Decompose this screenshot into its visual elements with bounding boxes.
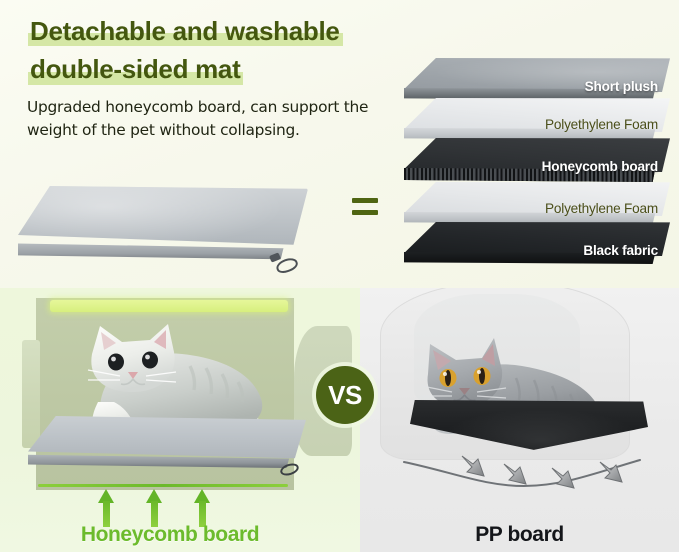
comparison-section: Honeycomb board <box>0 288 679 552</box>
pressure-arrow-down-1 <box>460 454 486 484</box>
headline-line-2: double-sided mat <box>30 52 240 86</box>
vs-badge: VS <box>316 366 374 424</box>
layer-label-2: Honeycomb board <box>542 159 670 174</box>
layer-black-fabric: Black fabric <box>404 222 670 274</box>
comparison-panel-pp: PP board <box>360 288 679 552</box>
headline-text-2: double-sided mat <box>30 54 240 84</box>
product-mat-photo <box>18 186 308 282</box>
layer-label-1: Polyethylene Foam <box>545 117 670 132</box>
headline-line-1: Detachable and washable <box>30 14 340 48</box>
page-title: Detachable and washable double-sided mat <box>30 14 410 87</box>
honeycomb-mat <box>28 416 306 478</box>
pressure-arrow-down-4 <box>598 460 624 490</box>
caption-honeycomb-board: Honeycomb board <box>0 523 340 547</box>
layer-label-4: Black fabric <box>583 243 670 258</box>
layer-stack-diagram: Short plush Polyethylene Foam Honeycomb … <box>404 58 670 274</box>
pp-mat-surface <box>410 400 648 452</box>
layer-label-0: Short plush <box>585 79 670 94</box>
flat-support-line <box>38 484 288 487</box>
support-arrow-up-1 <box>98 489 114 527</box>
subcopy-text: Upgraded honeycomb board, can support th… <box>27 96 399 143</box>
equals-sign-icon <box>352 198 378 220</box>
support-arrow-up-3 <box>194 489 210 527</box>
mat-edge <box>18 243 296 265</box>
layer-label-3: Polyethylene Foam <box>545 201 670 216</box>
support-arrow-up-2 <box>146 489 162 527</box>
pp-mat-sagging <box>410 400 648 460</box>
pressure-arrow-down-2 <box>502 462 528 492</box>
caption-pp-board: PP board <box>360 523 679 547</box>
headline-text-1: Detachable and washable <box>30 16 340 46</box>
comparison-panel-honeycomb: Honeycomb board <box>0 288 360 552</box>
top-section: Detachable and washable double-sided mat… <box>0 0 679 288</box>
infographic-root: Detachable and washable double-sided mat… <box>0 0 679 552</box>
pressure-arrow-down-3 <box>550 466 576 496</box>
